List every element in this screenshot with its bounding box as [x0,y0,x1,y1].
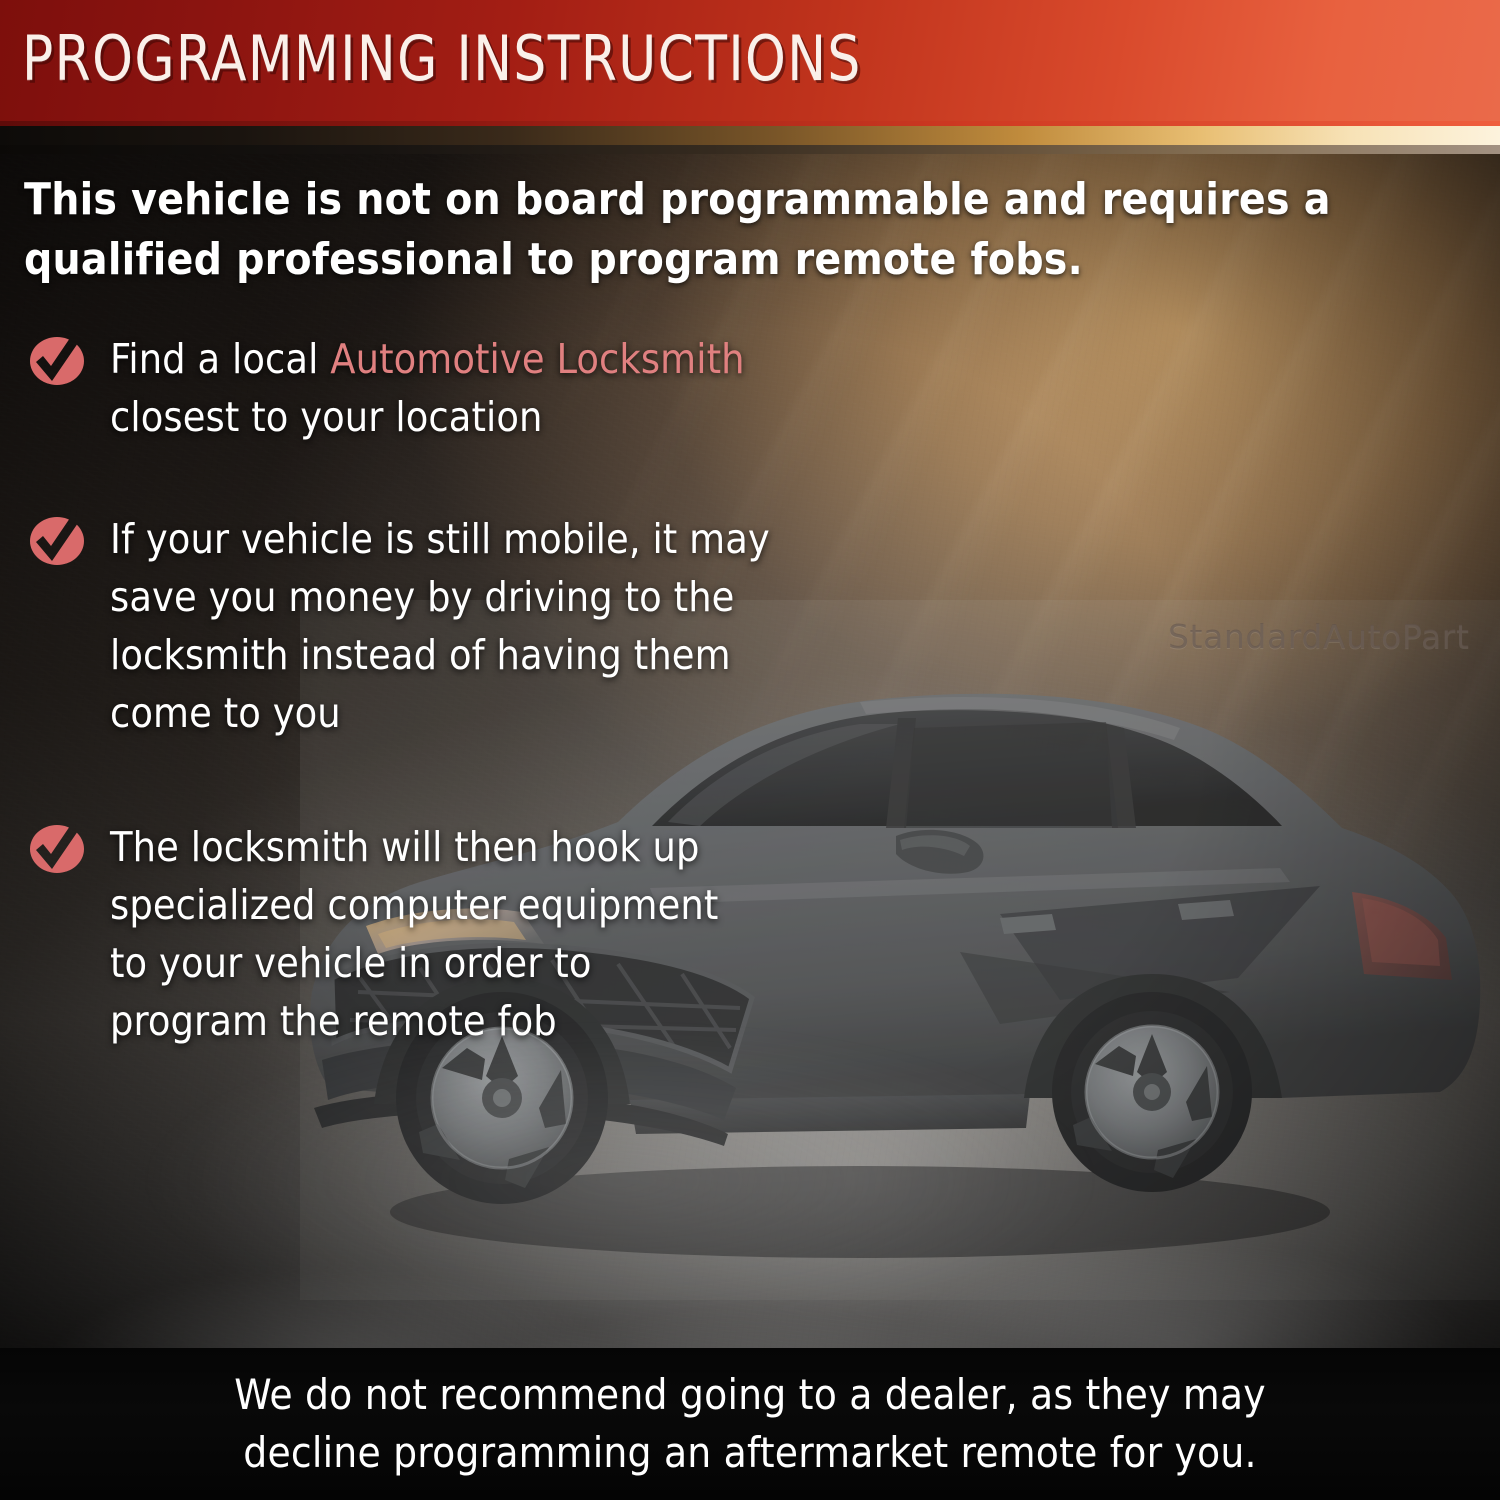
bullet-line: come to you [110,684,770,742]
footer-banner: We do not recommend going to a dealer, a… [0,1348,1500,1500]
check-circle-icon [26,334,88,388]
bullet-item-1: Find a local Automotive Locksmith closes… [0,330,745,446]
header-divider-band [0,126,1500,154]
headline-line-2: qualified professional to program remote… [24,230,1384,290]
bullet-line-text: Find a local [110,335,330,383]
bullet-line: The locksmith will then hook up [110,818,718,876]
watermark-brand: StandardAutoPart [1168,617,1470,656]
bullet-line: closest to your location [110,388,745,446]
footer-line-1: We do not recommend going to a dealer, a… [234,1366,1266,1424]
bullet-line: If your vehicle is still mobile, it may [110,510,770,568]
footer-line-2: decline programming an aftermarket remot… [243,1424,1256,1482]
headline: This vehicle is not on board programmabl… [24,170,1384,290]
bullet-text-3: The locksmith will then hook up speciali… [110,818,718,1050]
bullet-line: to your vehicle in order to [110,934,718,992]
bullet-line: Find a local Automotive Locksmith [110,330,745,388]
bullet-line: locksmith instead of having them [110,626,770,684]
bullet-item-2: If your vehicle is still mobile, it may … [0,510,770,742]
check-circle-icon [26,514,88,568]
check-circle-icon [26,822,88,876]
page-title: PROGRAMMING INSTRUCTIONS [22,24,862,94]
accent-text: Automotive Locksmith [330,335,744,383]
bullet-line: save you money by driving to the [110,568,770,626]
programming-instructions-poster: PROGRAMMING INSTRUCTIONS This vehicle is… [0,0,1500,1500]
bullet-line: program the remote fob [110,992,718,1050]
bullet-item-3: The locksmith will then hook up speciali… [0,818,718,1050]
bullet-text-2: If your vehicle is still mobile, it may … [110,510,770,742]
bullet-line-text: closest to your location [110,393,543,441]
headline-line-1: This vehicle is not on board programmabl… [24,170,1384,230]
bullet-line: specialized computer equipment [110,876,718,934]
bullet-text-1: Find a local Automotive Locksmith closes… [110,330,745,446]
header-banner: PROGRAMMING INSTRUCTIONS [0,0,1500,126]
